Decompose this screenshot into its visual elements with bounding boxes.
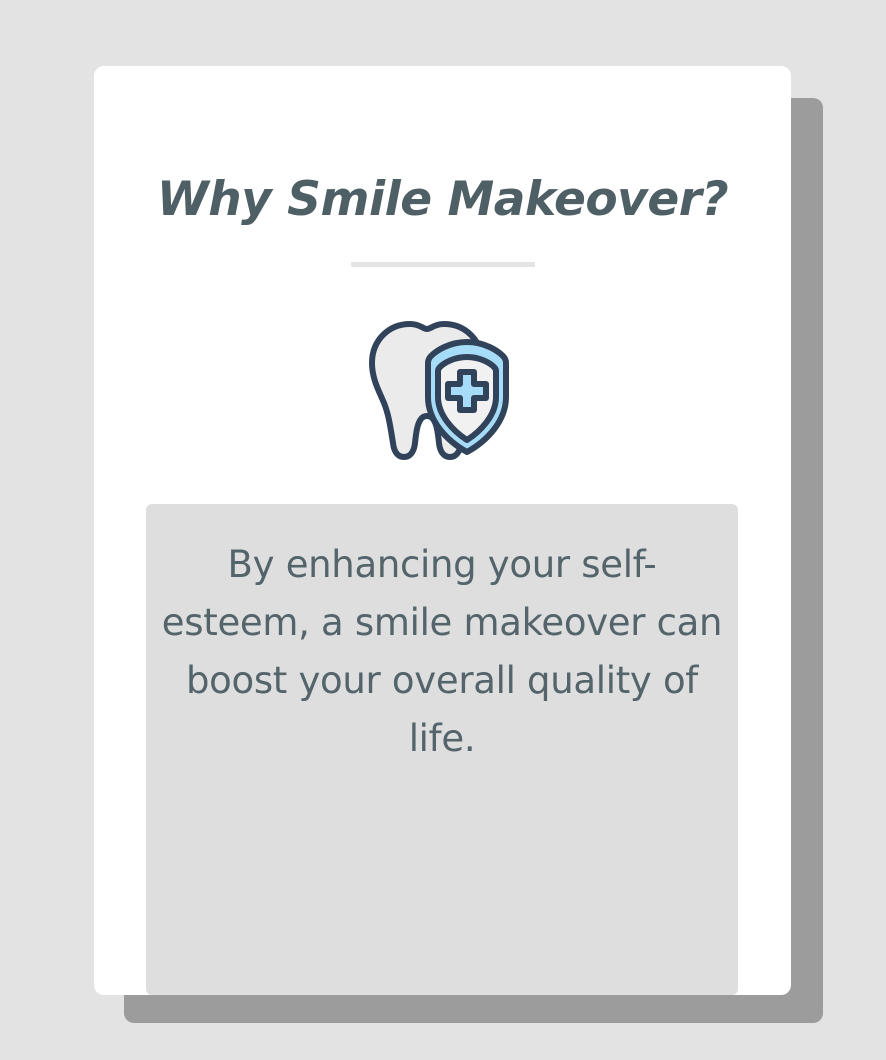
body-text-panel: By enhancing your self-esteem, a smile m… xyxy=(146,504,738,995)
title-divider xyxy=(351,262,535,267)
page-title: Why Smile Makeover? xyxy=(94,169,791,231)
slide-canvas: Why Smile Makeover? By enhancing your se… xyxy=(0,0,886,1060)
tooth-shield-plus-icon xyxy=(94,281,791,501)
body-paragraph: By enhancing your self-esteem, a smile m… xyxy=(146,536,738,768)
content-card: Why Smile Makeover? By enhancing your se… xyxy=(94,66,791,995)
